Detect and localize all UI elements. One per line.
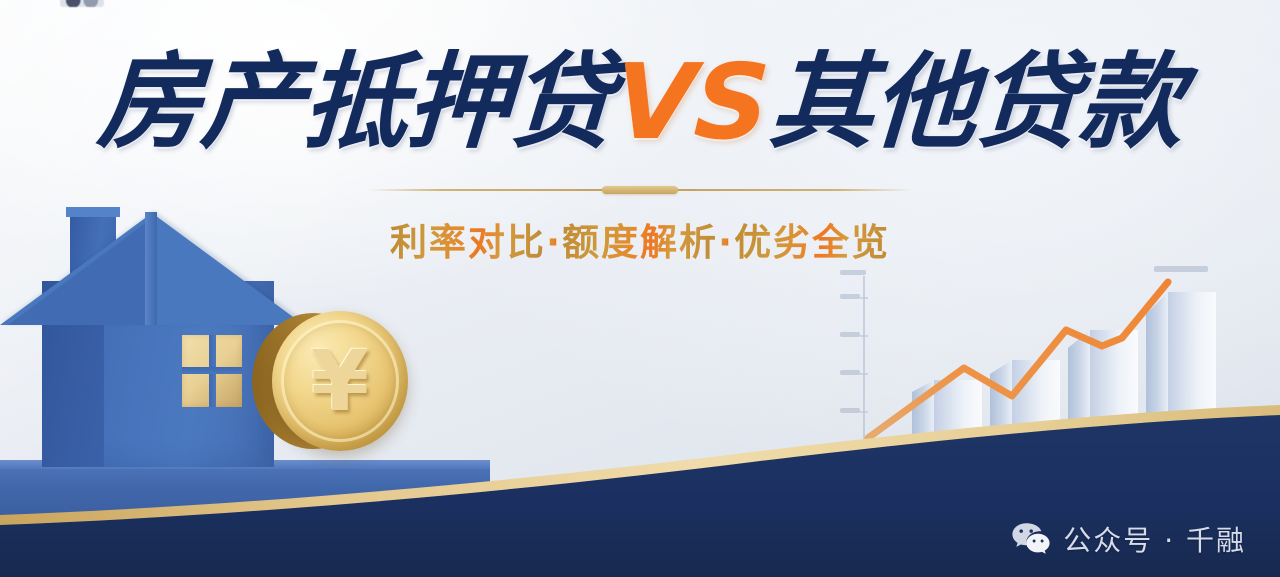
gold-yuan-coin: ¥ [272, 311, 408, 451]
wechat-icon [1011, 522, 1051, 556]
title-vs: VS [610, 48, 773, 156]
subtitle-segment-2: 额度解析 [562, 221, 718, 264]
banner-subtitle: 利率对比·额度解析·优劣全览 [0, 212, 1280, 266]
yuan-symbol: ¥ [272, 311, 408, 451]
wechat-watermark: 公众号 · 千融 [1011, 519, 1246, 559]
promo-banner: ¥ 房产抵押贷VS [0, 0, 1280, 577]
subtitle-segment-3: 优劣全览 [734, 221, 890, 264]
house-window [182, 335, 242, 407]
growth-chart-decoration [834, 262, 1244, 480]
top-edge-artifact [60, 0, 104, 7]
gold-divider [367, 186, 913, 194]
subtitle-dot-2: · [718, 221, 734, 264]
subtitle-segment-1: 利率对比 [390, 221, 546, 264]
platform-front [0, 465, 490, 525]
window-mullion-horizontal [182, 367, 242, 374]
title-part-1: 房产抵押贷 [95, 48, 616, 156]
subtitle-dot-1: · [546, 221, 562, 264]
banner-title: 房产抵押贷VS其他贷款 [0, 48, 1280, 156]
divider-center-pill [602, 186, 678, 194]
watermark-text: 公众号 · 千融 [1063, 519, 1246, 559]
title-part-2: 其他贷款 [767, 48, 1185, 156]
